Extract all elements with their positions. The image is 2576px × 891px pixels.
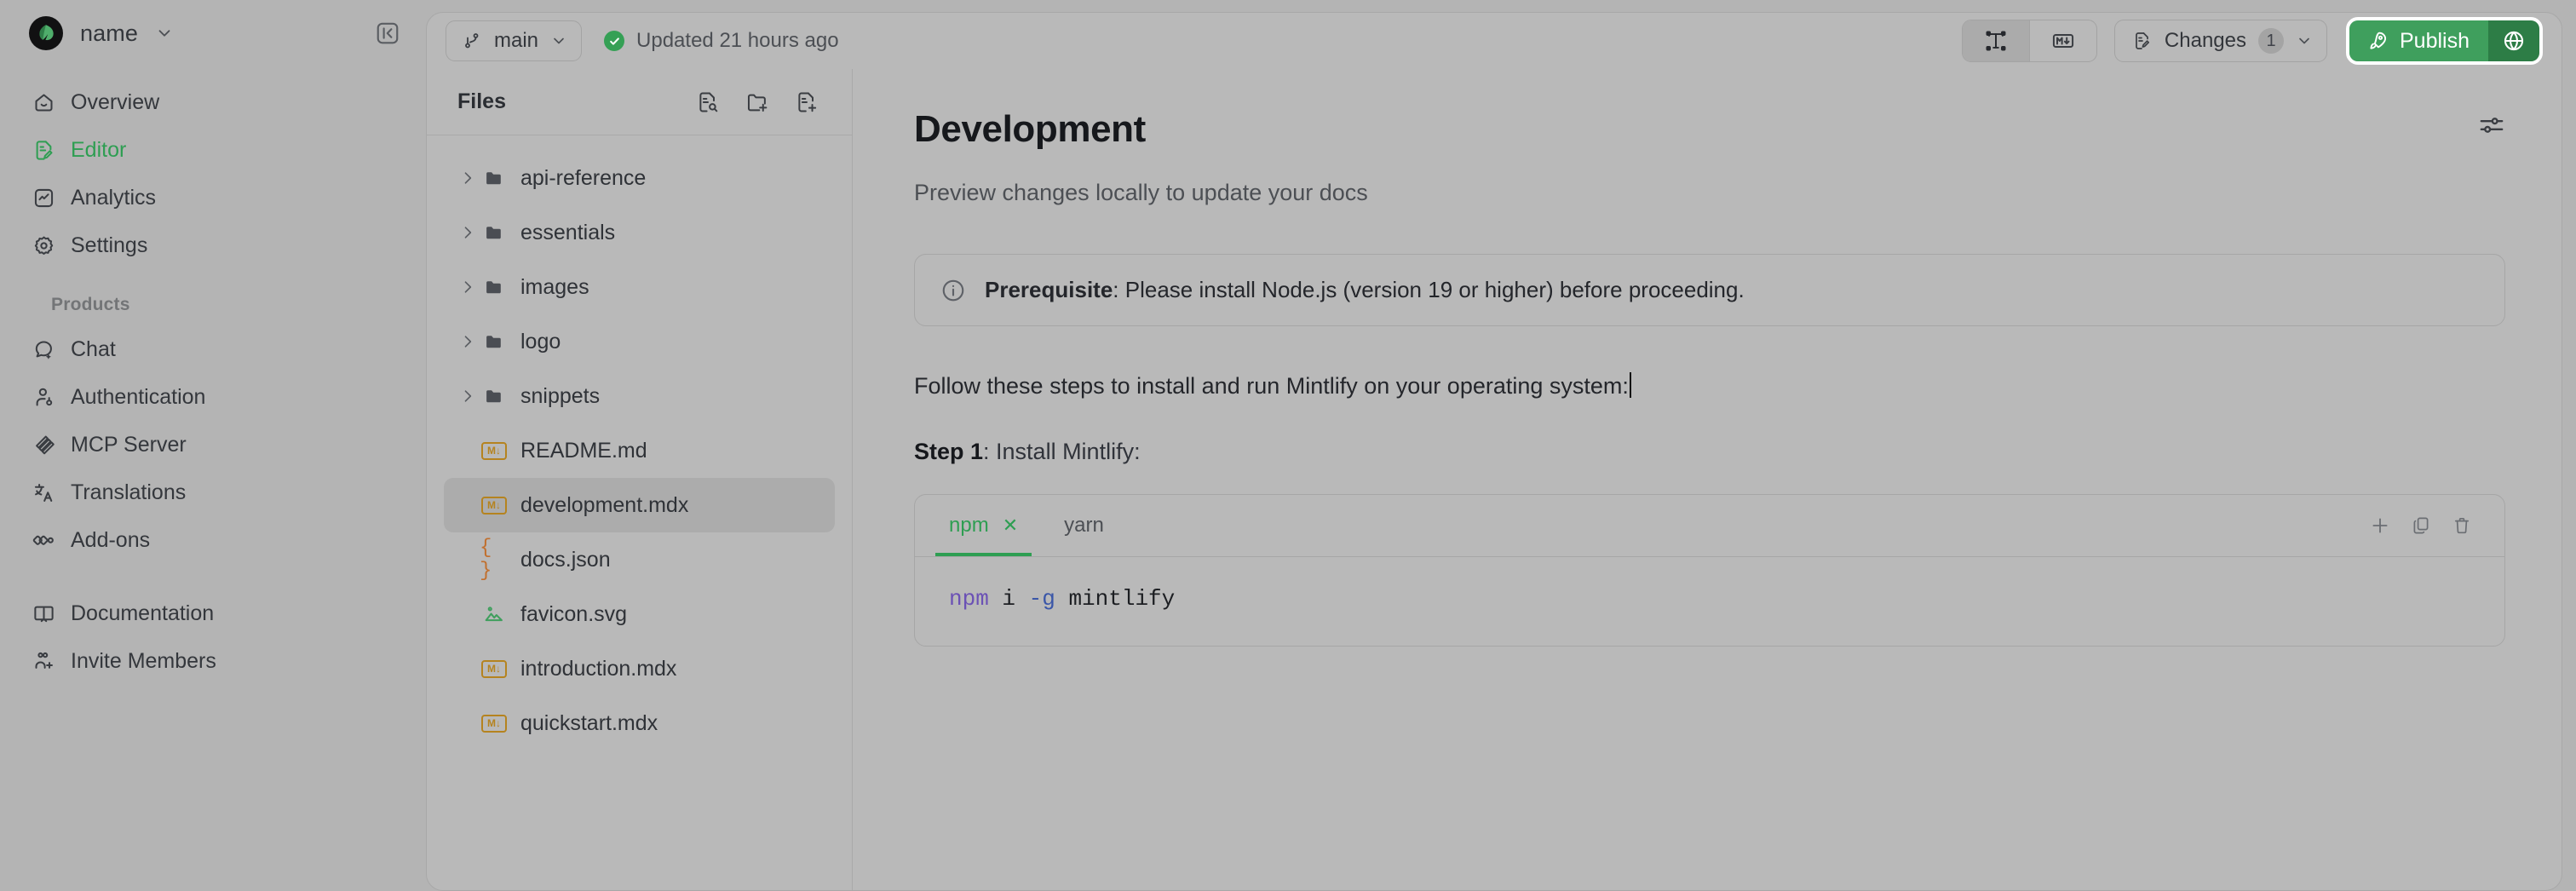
sidebar-item-label: Add-ons (71, 528, 150, 553)
file-name: api-reference (520, 166, 646, 191)
file-name: favicon.svg (520, 602, 627, 627)
file-search-icon[interactable] (690, 84, 726, 120)
visual-editor-icon[interactable] (1963, 20, 2029, 61)
toolbar: main Updated 21 hours ago (427, 13, 2562, 69)
git-branch-icon (462, 31, 482, 51)
translate-icon (32, 481, 55, 504)
prerequisite-callout: Prerequisite: Please install Node.js (ve… (914, 254, 2505, 326)
folder-icon (480, 277, 509, 298)
sidebar-item-label: Translations (71, 480, 186, 505)
file-row-json[interactable]: { } docs.json (444, 532, 835, 587)
file-name: images (520, 275, 589, 300)
file-row-folder[interactable]: images (444, 260, 835, 314)
markdown-file-icon: M↓ (480, 715, 509, 733)
sidebar-nav: Overview Editor Analytics (0, 66, 426, 685)
sidebar-item-analytics[interactable]: Analytics (19, 174, 407, 221)
chevron-down-icon (155, 24, 174, 43)
sidebar-collapse-button[interactable] (373, 19, 402, 48)
sidebar-item-translations[interactable]: Translations (19, 468, 407, 516)
update-status: Updated 21 hours ago (604, 29, 839, 53)
markdown-file-icon: M↓ (480, 442, 509, 460)
markdown-file-icon: M↓ (480, 497, 509, 514)
sidebar-header: name (0, 0, 426, 66)
chevron-right-icon[interactable] (456, 333, 480, 350)
code-token-command: npm (949, 586, 989, 612)
sidebar-item-overview[interactable]: Overview (19, 78, 407, 126)
folder-icon (480, 386, 509, 407)
spacer (1113, 495, 2360, 556)
spacer (1026, 495, 1055, 556)
sidebar-item-add-ons[interactable]: Add-ons (19, 516, 407, 564)
branch-selector[interactable]: main (446, 20, 582, 61)
code-tabs: npm ✕ yarn (915, 495, 2504, 556)
step-line: Step 1: Install Mintlify: (914, 439, 2505, 465)
code-content[interactable]: npm i -g mintlify (915, 556, 2504, 646)
sidebar-item-authentication[interactable]: Authentication (19, 373, 407, 421)
chevron-right-icon[interactable] (456, 224, 480, 241)
file-name: development.mdx (520, 493, 688, 518)
changes-count-badge: 1 (2258, 28, 2284, 54)
code-tab-npm[interactable]: npm ✕ (940, 495, 1026, 556)
file-name: logo (520, 330, 561, 354)
panel-body: Files (427, 69, 2562, 890)
chat-sparkle-icon (32, 338, 55, 361)
code-tab-yarn[interactable]: yarn (1055, 495, 1113, 556)
folder-icon (480, 222, 509, 244)
publish-button-group[interactable]: Publish (2346, 17, 2543, 65)
editor-bottom-space (914, 647, 2505, 681)
book-open-icon (32, 602, 55, 625)
sidebar-item-chat[interactable]: Chat (19, 325, 407, 373)
file-name: snippets (520, 384, 600, 409)
user-plus-icon (32, 650, 55, 673)
file-name: docs.json (520, 548, 611, 572)
file-row-folder[interactable]: snippets (444, 369, 835, 423)
markdown-file-icon: M↓ (480, 660, 509, 678)
sidebar-item-label: Documentation (71, 601, 214, 626)
file-row-image[interactable]: favicon.svg (444, 587, 835, 641)
sidebar-item-label: Analytics (71, 186, 156, 210)
workspace-switcher[interactable]: name (29, 16, 174, 50)
file-edit-icon (32, 139, 55, 162)
page-title: Development (914, 108, 2505, 151)
callout-bold: Prerequisite (985, 277, 1113, 302)
plus-icon[interactable] (2360, 495, 2401, 556)
sliders-icon[interactable] (2473, 106, 2510, 144)
gear-icon (32, 234, 55, 257)
sidebar-item-label: Overview (71, 90, 159, 115)
sidebar-item-label: Authentication (71, 385, 205, 410)
sidebar-item-label: Settings (71, 233, 147, 258)
code-tab-label: yarn (1064, 514, 1104, 537)
chevron-right-icon[interactable] (456, 388, 480, 405)
changes-button[interactable]: Changes 1 (2114, 20, 2327, 62)
files-panel: Files (427, 69, 853, 890)
sidebar-section-label: Products (19, 269, 407, 325)
file-name: introduction.mdx (520, 657, 676, 681)
file-row-markdown[interactable]: M↓ introduction.mdx (444, 641, 835, 696)
sidebar-item-documentation[interactable]: Documentation (19, 589, 407, 637)
mint-leaf-logo (29, 16, 63, 50)
editor-mode-toggle (1962, 20, 2097, 62)
chart-square-icon (32, 187, 55, 210)
copy-icon[interactable] (2401, 495, 2441, 556)
chevron-right-icon[interactable] (456, 170, 480, 187)
file-row-markdown[interactable]: M↓ quickstart.mdx (444, 696, 835, 750)
rocket-icon (2366, 30, 2389, 52)
file-row-markdown-selected[interactable]: M↓ development.mdx (444, 478, 835, 532)
paragraph-text: Follow these steps to install and run Mi… (914, 373, 1629, 399)
workspace-name: name (80, 20, 138, 47)
layers-icon (32, 434, 55, 457)
sidebar-item-editor[interactable]: Editor (19, 126, 407, 174)
chevron-right-icon[interactable] (456, 279, 480, 296)
sidebar-item-invite-members[interactable]: Invite Members (19, 637, 407, 685)
puzzle-diamond-icon (32, 529, 55, 552)
sidebar-item-label: MCP Server (71, 433, 187, 457)
trash-icon[interactable] (2441, 495, 2482, 556)
lock-user-icon (32, 386, 55, 409)
step-rest: : Install Mintlify: (983, 439, 1141, 464)
folder-plus-icon[interactable] (739, 84, 775, 120)
file-pen-icon (2132, 31, 2153, 51)
folder-icon (480, 331, 509, 353)
file-name: quickstart.mdx (520, 711, 658, 736)
publish-label: Publish (2400, 29, 2470, 54)
page-subtitle: Preview changes locally to update your d… (914, 180, 2505, 206)
home-icon (32, 91, 55, 114)
code-tab-label: npm (949, 514, 989, 537)
step-bold: Step 1 (914, 439, 983, 464)
sidebar-item-mcp-server[interactable]: MCP Server (19, 421, 407, 468)
markdown-editor-icon[interactable] (2030, 20, 2096, 61)
body-paragraph[interactable]: Follow these steps to install and run Mi… (914, 372, 1631, 400)
code-token-flag: -g (1029, 586, 1055, 612)
info-circle-icon (940, 278, 966, 303)
image-file-icon (480, 603, 509, 625)
json-file-icon: { } (480, 537, 509, 583)
branch-label: main (494, 29, 538, 53)
sidebar: name Overview (0, 0, 426, 891)
text-cursor (1630, 372, 1631, 398)
code-block: npm ✕ yarn (914, 494, 2505, 647)
update-status-text: Updated 21 hours ago (636, 29, 839, 53)
globe-icon[interactable] (2488, 20, 2539, 61)
chevron-down-icon (550, 32, 567, 49)
file-row-markdown[interactable]: M↓ README.md (444, 423, 835, 478)
file-plus-icon[interactable] (789, 84, 825, 120)
file-row-folder[interactable]: logo (444, 314, 835, 369)
sidebar-item-label: Invite Members (71, 649, 216, 674)
app-root: name Overview (0, 0, 2576, 891)
callout-text: Prerequisite: Please install Node.js (ve… (985, 277, 1745, 303)
file-name: README.md (520, 439, 647, 463)
files-title: Files (457, 89, 506, 114)
code-token-arg: i (989, 586, 1029, 612)
callout-rest: : Please install Node.js (version 19 or … (1113, 277, 1744, 302)
file-row-folder[interactable]: api-reference (444, 151, 835, 205)
sidebar-item-label: Chat (71, 337, 116, 362)
files-list: api-reference essentials (427, 135, 852, 750)
chevron-down-icon (2296, 32, 2313, 49)
changes-label: Changes (2165, 29, 2246, 53)
file-name: essentials (520, 221, 615, 245)
check-circle-icon (604, 31, 624, 51)
nav-gap (19, 564, 407, 589)
file-row-folder[interactable]: essentials (444, 205, 835, 260)
main-panel: main Updated 21 hours ago (426, 12, 2562, 891)
code-token-package: mintlify (1055, 586, 1175, 612)
folder-icon (480, 168, 509, 189)
publish-button[interactable]: Publish (2349, 20, 2488, 61)
files-header: Files (427, 69, 852, 135)
sidebar-item-settings[interactable]: Settings (19, 221, 407, 269)
sidebar-item-label: Editor (71, 138, 126, 163)
document-editor[interactable]: Development Preview changes locally to u… (853, 69, 2562, 890)
close-icon[interactable]: ✕ (1003, 514, 1018, 537)
